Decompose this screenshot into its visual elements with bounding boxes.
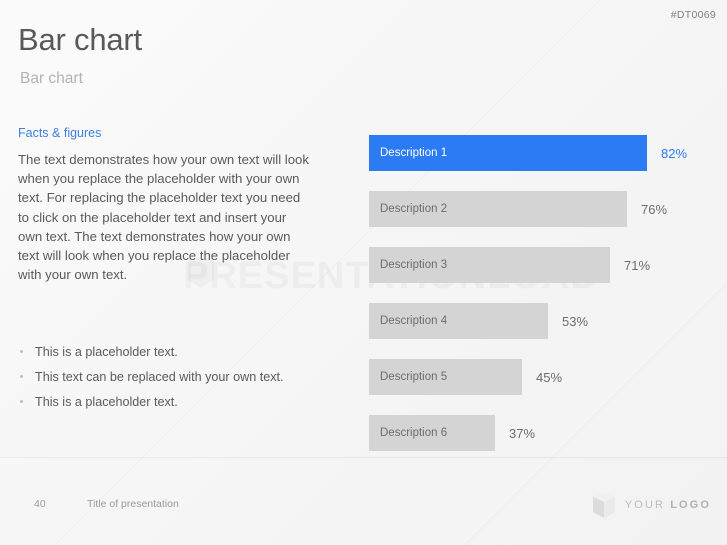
logo[interactable]: YOUR LOGO: [593, 492, 711, 518]
bar-label: Description 1: [369, 147, 447, 159]
list-item-label: This is a placeholder text.: [35, 345, 178, 359]
list-item: This is a placeholder text.: [18, 393, 318, 411]
bar-segment[interactable]: Description 1: [369, 135, 647, 171]
template-code: #DT0069: [671, 9, 716, 21]
logo-text: YOUR LOGO: [625, 499, 711, 511]
bullet-list: This is a placeholder text. This text ca…: [18, 343, 318, 418]
chart-row: Description 2 76%: [369, 191, 709, 227]
bullet-dot-icon: [20, 350, 23, 353]
bar-value-label: 82%: [661, 135, 687, 171]
bar-segment[interactable]: Description 4: [369, 303, 548, 339]
bar-segment[interactable]: Description 3: [369, 247, 610, 283]
body-paragraph: The text demonstrates how your own text …: [18, 150, 310, 284]
page-title: Bar chart: [18, 22, 142, 58]
list-item: This text can be replaced with your own …: [18, 368, 318, 386]
chart-row: Description 1 82%: [369, 135, 709, 171]
bullet-dot-icon: [20, 400, 23, 403]
list-item-label: This text can be replaced with your own …: [35, 370, 284, 384]
bar-label: Description 3: [369, 259, 447, 271]
bullet-dot-icon: [20, 375, 23, 378]
bar-value-label: 45%: [536, 359, 562, 395]
bar-value-label: 71%: [624, 247, 650, 283]
chart-row: Description 4 53%: [369, 303, 709, 339]
bar-chart: Description 1 82% Description 2 76% Desc…: [369, 135, 709, 471]
logo-text-bold: LOGO: [670, 499, 711, 511]
bar-segment[interactable]: Description 6: [369, 415, 495, 451]
bar-label: Description 4: [369, 315, 447, 327]
cube-icon: [593, 492, 615, 518]
bar-label: Description 5: [369, 371, 447, 383]
logo-text-light: YOUR: [625, 499, 665, 511]
bar-value-label: 53%: [562, 303, 588, 339]
bar-segment[interactable]: Description 2: [369, 191, 627, 227]
chart-row: Description 5 45%: [369, 359, 709, 395]
chart-row: Description 6 37%: [369, 415, 709, 451]
bar-value-label: 76%: [641, 191, 667, 227]
list-item-label: This is a placeholder text.: [35, 395, 178, 409]
bar-segment[interactable]: Description 5: [369, 359, 522, 395]
page-subtitle: Bar chart: [20, 70, 83, 88]
list-item: This is a placeholder text.: [18, 343, 318, 361]
footer-title: Title of presentation: [87, 498, 179, 510]
footer-divider: [0, 457, 727, 458]
page-number: 40: [34, 498, 46, 510]
chart-row: Description 3 71%: [369, 247, 709, 283]
slide-canvas: PRESENTATIONLOAD #DT0069 Bar chart Bar c…: [0, 0, 727, 545]
facts-and-figures-heading: Facts & figures: [18, 126, 101, 140]
bar-label: Description 2: [369, 203, 447, 215]
bar-label: Description 6: [369, 427, 447, 439]
bar-value-label: 37%: [509, 415, 535, 451]
